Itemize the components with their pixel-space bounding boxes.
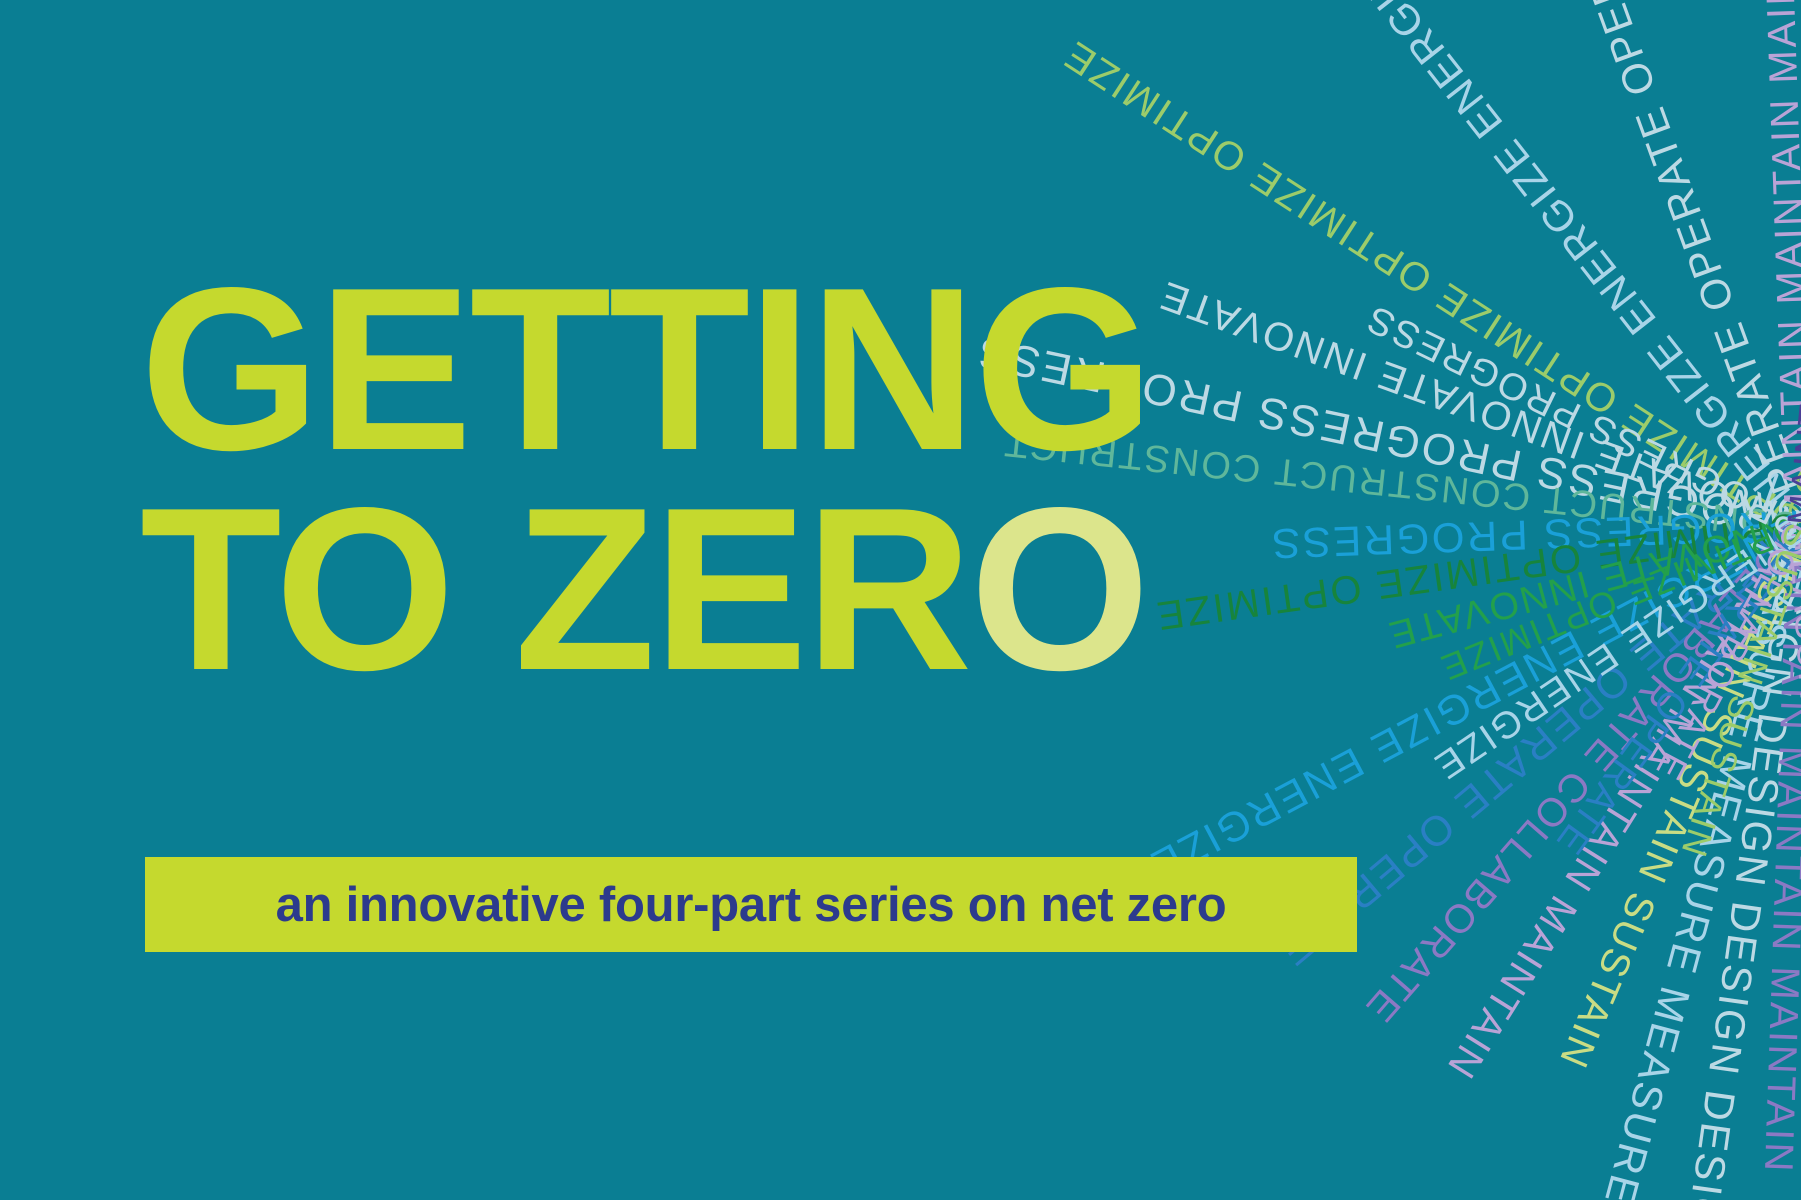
burst-word-ray: MAINTAIN MAINTAIN bbox=[1779, 140, 1801, 528]
poster-canvas: OPTIMIZE OPTIMIZE OPTIMIZE OPTIMIZEENERG… bbox=[0, 0, 1801, 1200]
burst-word-ray: OPERATE OPERATE OPERATE bbox=[1547, 0, 1801, 533]
headline-line-1: GETTING bbox=[140, 262, 1380, 478]
subtitle-text: an innovative four-part series on net ze… bbox=[276, 877, 1227, 933]
burst-word-ray: INNOVATE INNOVATE bbox=[1382, 504, 1801, 656]
headline-line-2: TO ZERO bbox=[140, 482, 1380, 698]
burst-word-ray: OPERATE OPERATE bbox=[1546, 512, 1801, 863]
headline-line-2-prefix: TO ZER bbox=[140, 460, 970, 719]
burst-word-ray: OPTIMIZE OPTIMIZE bbox=[1434, 506, 1801, 690]
burst-word-ray: INNOVATE INNOVATE bbox=[1781, 142, 1801, 536]
burst-word-ray: MEASURE MEASURE MEASURE bbox=[1595, 519, 1801, 1200]
headline-final-o: O bbox=[970, 460, 1148, 719]
subtitle-banner: an innovative four-part series on net ze… bbox=[145, 857, 1357, 952]
burst-word-ray: SUSTAIN SUSTAIN bbox=[1672, 519, 1801, 864]
burst-word-ray: MAINTAIN MAINTAIN MAINTAIN bbox=[1755, 524, 1801, 1174]
burst-word-ray: MAINTAIN MAINTAIN MAINTAIN bbox=[1437, 513, 1801, 1087]
burst-word-ray: ENERGIZE ENERGIZE ENERGIZE bbox=[1330, 0, 1801, 540]
burst-word-ray: CONSTRUCT CONSTRUCT bbox=[1779, 7, 1801, 530]
burst-word-ray: PROGRESS PROGRESS bbox=[1359, 295, 1801, 544]
burst-word-ray: MEASURE MEASURE bbox=[1779, 524, 1801, 947]
burst-word-ray: SUSTAIN SUSTAIN SUSTAIN bbox=[1549, 516, 1801, 1075]
page-title: GETTING TO ZERO bbox=[140, 262, 1380, 698]
burst-word-ray: DESIGN DESIGN DESIGN DESIGN bbox=[1672, 522, 1801, 1200]
burst-word-ray: COLLABORATE bbox=[1647, 515, 1801, 788]
burst-word-ray: ENERGIZE ENERGIZE bbox=[1425, 507, 1801, 787]
burst-word-ray: MAINTAIN MAINTAIN MAINTAIN bbox=[1755, 0, 1801, 526]
burst-word-ray: COLLABORATE COLLABORATE bbox=[1355, 510, 1801, 1031]
